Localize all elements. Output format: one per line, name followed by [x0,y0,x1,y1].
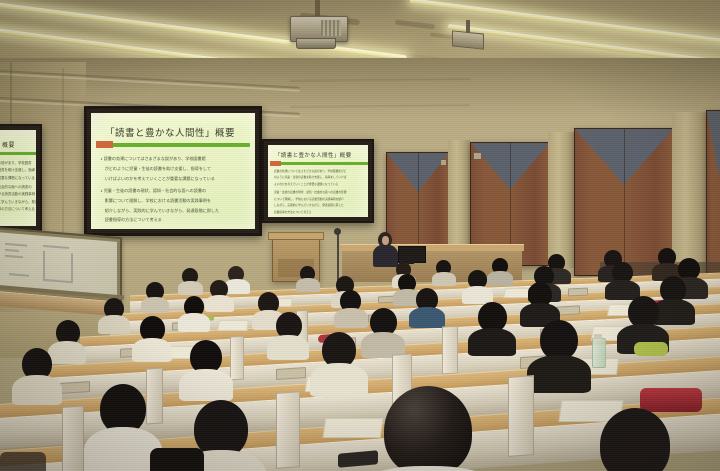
chair-back [0,452,46,471]
wall-switch-plate-2 [440,159,447,166]
bottle-cap [594,334,602,339]
right-projection-screen: 「読書と豊かな人間性」概要 読書の効果についてはさまざまな説があり、学校図書館が… [262,139,374,223]
wall-pillar-1 [448,140,470,258]
notebook [217,320,249,331]
microphone-head [334,228,341,235]
lecture-hall-photo: University lecture hall during a present… [0,0,720,471]
left-edge-screen: 人間性」概要 でつかさまざまな説があり、学校図書 な児童・生徒の読書を助け支援し… [0,124,42,232]
wall-panel-4 [706,110,720,282]
slide-tab-accent [96,141,113,148]
front-desk-top [340,244,524,251]
slide-bullet-1: 読書の効果についてはさまざまな説があり、学校図書館 がどのように児童・生徒の読書… [101,155,251,184]
notebook [323,418,384,438]
green-bag [634,342,668,356]
wall-switch-plate [473,152,482,160]
slide-title: 「読書と豊かな人間性」概要 [105,125,235,139]
projector-lens [296,38,336,49]
chair-back [150,448,204,471]
wall-pillar-3 [672,112,706,278]
microphone-stand [337,232,339,282]
slide-accent-bar [98,143,250,147]
wall-pillar-2 [548,132,574,268]
lectern-top [268,232,324,240]
water-bottle [592,338,606,368]
notebook [503,288,530,298]
wall-panel-1 [386,152,450,256]
main-projection-screen: 「読書と豊かな人間性」概要 読書の効果についてはさまざまな説があり、学校図書館 … [84,106,262,236]
slide-bullet-2: 児童・生徒の読書の現状、認知・社会的な面への読書の 影響について理解し、学校にお… [101,187,251,226]
ceiling-speaker [452,30,484,49]
red-pencil-case [640,388,702,412]
